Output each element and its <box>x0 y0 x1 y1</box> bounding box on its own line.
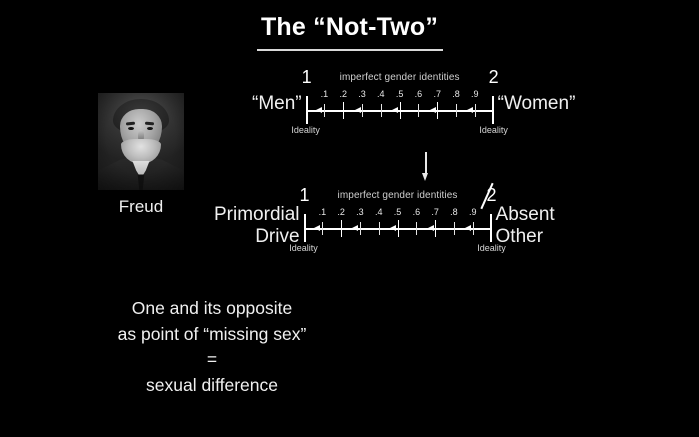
gender-scale-tick <box>324 104 325 117</box>
gender-scale-tick-label: .7 <box>433 90 441 99</box>
page-title: The “Not-Two” <box>0 14 699 42</box>
slide-canvas: The “Not-Two” Freud “Men” imperfect gend… <box>0 0 699 437</box>
drive-scale-endcap-right <box>490 214 492 242</box>
freud-figure: Freud <box>98 93 184 217</box>
drive-scale-right-ideality: Ideality <box>477 244 506 253</box>
gender-scale-tick <box>400 102 401 119</box>
drive-scale-tick <box>322 222 323 235</box>
gender-scale-tick-label: .8 <box>452 90 460 99</box>
freud-caption: Freud <box>98 197 184 217</box>
drive-scale-tick <box>416 222 417 235</box>
down-arrow-head <box>422 173 428 181</box>
drive-scale-row: Primordial Drive imperfect gender identi… <box>214 190 555 256</box>
gender-scale-tick-label: .3 <box>358 90 366 99</box>
gender-scale-endcap-left <box>306 96 308 124</box>
gender-scale-ruler: imperfect gender identities 1 2 .1.2.3.4… <box>306 72 494 138</box>
gender-scale-tick-label: .6 <box>415 90 423 99</box>
gender-scale-tick-label: .1 <box>321 90 329 99</box>
drive-scale-tick-label: .5 <box>394 208 402 217</box>
gender-scale-tick-labels: .1.2.3.4.5.6.7.8.9 <box>306 90 494 102</box>
drive-scale-left-ideality: Ideality <box>289 244 318 253</box>
gender-scale-left-ideality: Ideality <box>291 126 320 135</box>
drive-scale-ruler: imperfect gender identities 1 2 .1.2.3.4… <box>304 190 492 256</box>
drive-scale-tick <box>341 220 342 237</box>
gender-scale-tick <box>418 104 419 117</box>
drive-scale-arrowhead-icon <box>390 225 396 231</box>
drive-scale-right-label: Absent Other <box>496 190 555 249</box>
gender-scale-tick <box>343 102 344 119</box>
statement-block: One and its opposite as point of “missin… <box>62 296 362 398</box>
gender-scale-tick <box>381 104 382 117</box>
drive-scale-arrowhead-icon <box>352 225 358 231</box>
gender-scale-tick <box>456 104 457 117</box>
drive-scale-arrowhead-icon <box>314 225 320 231</box>
gender-scale-left-endpoint-number: 1 <box>302 68 312 86</box>
drive-scale-tick-label: .4 <box>375 208 383 217</box>
gender-scale-caption: imperfect gender identities <box>306 72 494 83</box>
gender-scale-endcap-right <box>492 96 494 124</box>
gender-scale-tick-label: .2 <box>339 90 347 99</box>
statement-line-1: One and its opposite <box>62 296 362 322</box>
gender-scale-tick <box>437 102 438 119</box>
drive-scale-caption: imperfect gender identities <box>304 190 492 201</box>
statement-line-4: sexual difference <box>62 373 362 399</box>
gender-scale-tick <box>362 104 363 117</box>
gender-scale-tick-label: .4 <box>377 90 385 99</box>
drive-scale-tick-labels: .1.2.3.4.5.6.7.8.9 <box>304 208 492 220</box>
gender-scale-right-endpoint-number: 2 <box>489 68 499 86</box>
drive-scale-tick <box>454 222 455 235</box>
down-arrow-icon <box>420 152 432 182</box>
gender-scale-row: “Men” imperfect gender identities 1 2 .1… <box>252 72 575 138</box>
gender-scale-right-ideality: Ideality <box>479 126 508 135</box>
drive-scale-tick-label: .3 <box>356 208 364 217</box>
gender-scale-tick <box>475 104 476 117</box>
drive-scale-tick-label: .7 <box>431 208 439 217</box>
gender-scale-arrowhead-icon <box>392 107 398 113</box>
drive-scale-arrowhead-icon <box>465 225 471 231</box>
gender-scale-arrowhead-icon <box>316 107 322 113</box>
drive-scale-tick-label: .1 <box>319 208 327 217</box>
down-arrow-stem <box>425 152 427 175</box>
drive-scale-tick <box>473 222 474 235</box>
statement-line-2: as point of “missing sex” <box>62 322 362 348</box>
drive-scale-tick-label: .6 <box>413 208 421 217</box>
portrait-vignette <box>98 93 184 190</box>
drive-scale-tick <box>435 220 436 237</box>
drive-scale-tick <box>398 220 399 237</box>
drive-scale-tick-label: .8 <box>450 208 458 217</box>
gender-scale-right-label: “Women” <box>498 72 576 115</box>
gender-scale-left-label: “Men” <box>252 72 302 115</box>
drive-scale-tick <box>360 222 361 235</box>
gender-scale-arrowhead-icon <box>355 107 361 113</box>
drive-scale-left-endpoint-number: 1 <box>300 186 310 204</box>
gender-scale-arrowhead-icon <box>467 107 473 113</box>
drive-scale-tick-label: .2 <box>337 208 345 217</box>
gender-scale-tick-label: .5 <box>396 90 404 99</box>
drive-scale-right-endpoint-number: 2 <box>487 186 497 204</box>
drive-scale-arrowhead-icon <box>428 225 434 231</box>
drive-scale-left-label: Primordial Drive <box>214 190 300 249</box>
gender-scale-arrowhead-icon <box>430 107 436 113</box>
title-underline <box>257 49 443 51</box>
drive-scale-tick-label: .9 <box>469 208 477 217</box>
statement-line-3: = <box>62 347 362 373</box>
drive-scale-tick <box>379 222 380 235</box>
gender-scale-tick-label: .9 <box>471 90 479 99</box>
title-block: The “Not-Two” <box>0 14 699 51</box>
freud-portrait-image <box>98 93 184 190</box>
drive-scale-endcap-left <box>304 214 306 242</box>
